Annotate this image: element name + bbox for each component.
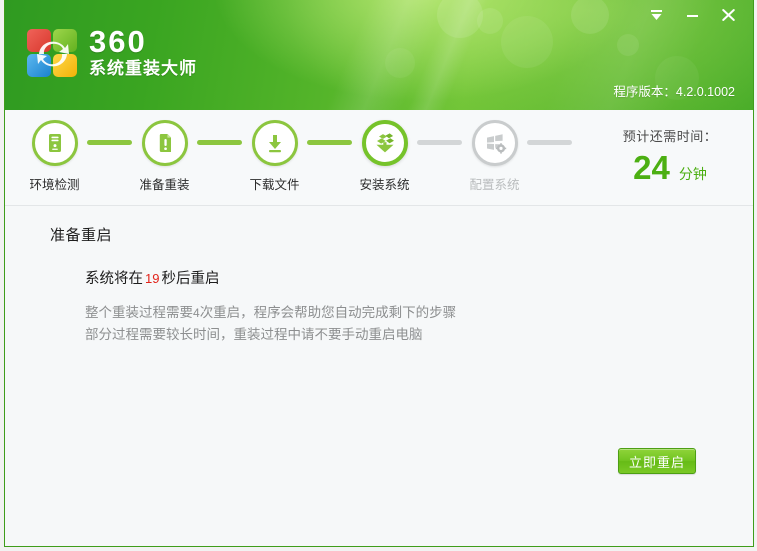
step-prepare-reinstall[interactable]: 准备重装: [133, 120, 196, 193]
countdown-message: 系统将在19秒后重启: [85, 267, 753, 288]
note-line1-prefix: 整个重装过程需要: [85, 305, 193, 320]
brand-subtitle: 系统重装大师: [89, 58, 197, 79]
step-circle: [362, 120, 408, 166]
step-connector: [87, 140, 132, 145]
header-bokeh-circle: [617, 34, 639, 56]
document-alert-icon: [153, 131, 177, 155]
countdown-prefix: 系统将在: [85, 271, 143, 287]
step-configure-system[interactable]: 配置系统: [463, 120, 526, 193]
header-bokeh-circle: [385, 48, 415, 78]
step-label: 下载文件: [249, 174, 299, 193]
step-connector: [197, 140, 242, 145]
estimated-time-unit: 分钟: [679, 164, 707, 184]
step-install-system[interactable]: 安装系统: [353, 120, 416, 193]
brand-text: 360 系统重装大师: [89, 26, 197, 81]
windows-gear-icon: [483, 131, 507, 155]
close-icon: [721, 8, 736, 22]
minimize-icon: [685, 9, 700, 22]
progress-steps-band: 环境检测 准备重装: [5, 110, 753, 206]
header-bokeh-circle: [571, 0, 609, 34]
computer-tower-icon: [43, 131, 67, 155]
step-connector: [417, 140, 462, 145]
menu-button[interactable]: [645, 5, 667, 25]
reboot-note: 整个重装过程需要4次重启，程序会帮助您自动完成剩下的步骤 部分过程需要较长时间，…: [85, 302, 753, 346]
step-label: 环境检测: [29, 174, 79, 193]
download-arrow-icon: [263, 131, 287, 155]
page-title: 准备重启: [50, 224, 753, 245]
note-line1-suffix: 次重启，程序会帮助您自动完成剩下的步骤: [200, 305, 457, 320]
reboot-note-line-1: 整个重装过程需要4次重启，程序会帮助您自动完成剩下的步骤: [85, 302, 753, 324]
close-button[interactable]: [717, 5, 739, 25]
step-environment-check[interactable]: 环境检测: [23, 120, 86, 193]
content-area: 准备重启 系统将在19秒后重启 整个重装过程需要4次重启，程序会帮助您自动完成剩…: [5, 206, 753, 546]
step-connector: [527, 140, 572, 145]
progress-steps-row: 环境检测 准备重装: [23, 120, 587, 193]
step-label: 配置系统: [469, 174, 519, 193]
app-header: 360 系统重装大师 程序版本：4.2.0.1002: [5, 0, 753, 110]
header-bokeh-circle: [477, 8, 503, 34]
estimated-time-value-row: 24 分钟: [587, 151, 753, 185]
step-circle: [472, 120, 518, 166]
menu-chevron-icon: [649, 9, 664, 22]
step-circle: [32, 120, 78, 166]
brand: 360 系统重装大师: [26, 26, 197, 81]
note-reboot-count: 4: [193, 306, 200, 320]
minimize-button[interactable]: [681, 5, 703, 25]
estimated-time-value: 24: [633, 151, 670, 185]
progress-steps: 环境检测 准备重装: [5, 110, 587, 193]
reboot-note-line-2: 部分过程需要较长时间，重装过程中请不要手动重启电脑: [85, 324, 753, 346]
step-connector: [307, 140, 352, 145]
header-light-streak: [299, 0, 461, 110]
estimated-time-panel: 预计还需时间： 24 分钟: [587, 110, 753, 185]
version-label: 程序版本：4.2.0.1002: [613, 81, 735, 100]
countdown-suffix: 秒后重启: [161, 271, 219, 287]
app-logo: [26, 28, 80, 80]
countdown-seconds: 19: [143, 271, 161, 286]
estimated-time-label: 预计还需时间：: [587, 126, 753, 145]
step-circle: [142, 120, 188, 166]
app-window: 360 系统重装大师 程序版本：4.2.0.1002: [4, 0, 754, 547]
window-controls: [645, 5, 739, 25]
reboot-now-button[interactable]: 立即重启: [618, 448, 696, 474]
step-download-files[interactable]: 下载文件: [243, 120, 306, 193]
install-package-icon: [372, 130, 398, 156]
brand-name: 360: [89, 26, 197, 58]
header-bokeh-circle: [501, 16, 553, 68]
step-label: 安装系统: [359, 174, 409, 193]
header-bokeh-circle: [437, 0, 483, 38]
header-light-streak: [378, 0, 507, 110]
refresh-arrows-icon: [26, 28, 80, 80]
step-label: 准备重装: [139, 174, 189, 193]
step-circle: [252, 120, 298, 166]
